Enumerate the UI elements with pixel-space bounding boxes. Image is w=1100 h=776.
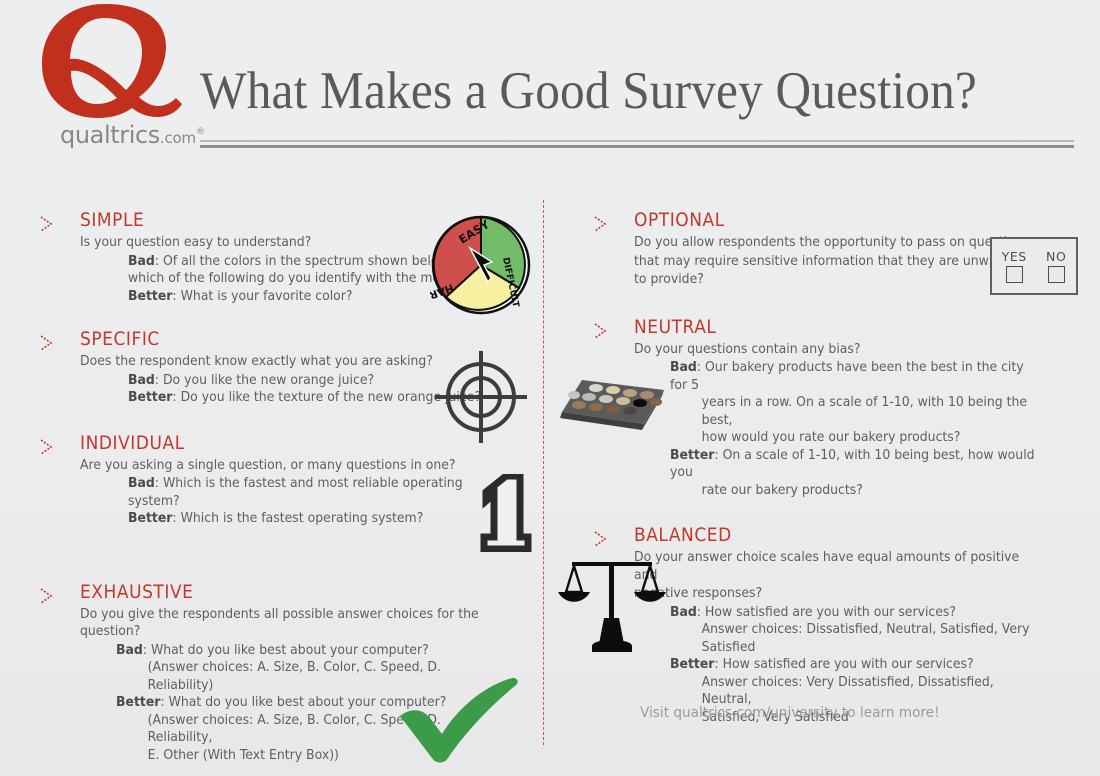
- logo-registered-mark: ®: [196, 127, 205, 137]
- better-text: : What is your favorite color?: [172, 289, 352, 304]
- bad-text: : Which is the fastest and most reliable…: [128, 476, 463, 509]
- bad-label: Bad: [116, 643, 143, 658]
- better-answer-choices: Answer choices: Very Dissatisfied, Dissa…: [702, 674, 1044, 709]
- header: qualtrics.com® What Makes a Good Survey …: [0, 0, 1100, 175]
- title-rule-thin: [200, 140, 1074, 142]
- better-text-cont: rate our bakery products?: [702, 482, 1044, 500]
- bad-label: Bad: [670, 605, 697, 620]
- better-text: : Which is the fastest operating system?: [172, 511, 423, 526]
- chevron-right-icon: [38, 334, 56, 352]
- column-divider: [543, 200, 544, 745]
- section-question-line2: that may require sensitive information t…: [634, 253, 1041, 271]
- yes-checkbox[interactable]: [1006, 266, 1023, 283]
- chevron-right-icon: [592, 215, 610, 233]
- yes-option[interactable]: YES: [1002, 249, 1027, 283]
- title-rule-thick: [200, 145, 1074, 148]
- bad-text: : What do you like best about your compu…: [143, 643, 429, 658]
- section-title: BALANCED: [634, 525, 1037, 546]
- yes-no-checkbox-group[interactable]: YES NO: [990, 237, 1078, 295]
- better-label: Better: [128, 289, 172, 304]
- section-title: EXHAUSTIVE: [80, 582, 501, 603]
- footer-note[interactable]: Visit qualtrics.com/university to learn …: [640, 705, 940, 721]
- bad-text: : Do you like the new orange juice?: [155, 373, 374, 388]
- bad-example: Bad: Our bakery products have been the b…: [670, 359, 1044, 447]
- section-title: OPTIONAL: [634, 210, 1037, 231]
- balance-scale-icon: [558, 548, 666, 666]
- bad-example: Bad: How satisfied are you with our serv…: [670, 604, 1044, 657]
- section-question: Are you asking a single question, or man…: [80, 457, 506, 475]
- bad-example: Bad: Which is the fastest and most relia…: [128, 475, 509, 510]
- logo-dotcom: .com: [160, 129, 196, 147]
- bad-text: : Our bakery products have been the best…: [670, 360, 1024, 393]
- better-label: Better: [128, 390, 172, 405]
- better-label: Better: [128, 511, 172, 526]
- bad-text: : How satisfied are you with our service…: [697, 605, 956, 620]
- yes-label: YES: [1002, 249, 1027, 264]
- section-question: Do your questions contain any bias?: [634, 341, 1041, 359]
- section-question-line2: negative responses?: [634, 585, 1041, 603]
- ease-pie-chart: EASY DIFFICULT HARD: [430, 214, 532, 316]
- section-question: Do you give the respondents all possible…: [80, 606, 506, 641]
- better-label: Better: [670, 448, 714, 463]
- no-checkbox[interactable]: [1048, 266, 1065, 283]
- better-label: Better: [116, 695, 160, 710]
- bad-answer-choices: Answer choices: Dissatisfied, Neutral, S…: [702, 621, 1044, 639]
- bad-label: Bad: [670, 360, 697, 375]
- chevron-right-icon: [38, 587, 56, 605]
- crosshair-target-icon: [432, 348, 530, 446]
- bad-label: Bad: [128, 254, 155, 269]
- numeral-one-icon: [472, 474, 534, 552]
- better-example: Better: On a scale of 1-10, with 10 bein…: [670, 447, 1044, 500]
- better-text: : On a scale of 1-10, with 10 being best…: [670, 448, 1035, 481]
- chevron-right-icon: [592, 530, 610, 548]
- qualtrics-wordmark: qualtrics.com®: [60, 121, 205, 149]
- qualtrics-logo[interactable]: qualtrics.com®: [30, 2, 200, 152]
- better-example: Better: Which is the fastest operating s…: [128, 510, 509, 528]
- bad-label: Bad: [128, 373, 155, 388]
- bad-label: Bad: [128, 476, 155, 491]
- section-title: SPECIFIC: [80, 329, 501, 350]
- infographic-page: qualtrics.com® What Makes a Good Survey …: [0, 0, 1100, 776]
- no-option[interactable]: NO: [1046, 249, 1066, 283]
- chevron-right-icon: [38, 438, 56, 456]
- section-question-line3: to provide?: [634, 271, 1041, 289]
- green-checkmark-icon: [392, 672, 524, 766]
- logo-word-text: qualtrics: [60, 121, 160, 149]
- chevron-right-icon: [38, 215, 56, 233]
- section-individual: INDIVIDUAL Are you asking a single quest…: [38, 433, 538, 528]
- page-title: What Makes a Good Survey Question?: [200, 64, 977, 118]
- bakery-tray-icon: [552, 372, 674, 436]
- no-label: NO: [1046, 249, 1066, 264]
- qualtrics-q-icon: [30, 2, 190, 124]
- bad-text: : Of all the colors in the spectrum show…: [155, 254, 453, 269]
- better-text: : How satisfied are you with our service…: [714, 657, 973, 672]
- section-question-line1: Do you allow respondents the opportunity…: [634, 234, 1041, 252]
- section-title: NEUTRAL: [634, 317, 1037, 338]
- bad-answer-choices-cont: Satisfied: [702, 639, 1044, 657]
- title-underline-rules: [200, 140, 1074, 148]
- section-question-line1: Do your answer choice scales have equal …: [634, 549, 1041, 584]
- bad-text-cont1: years in a row. On a scale of 1-10, with…: [702, 394, 1044, 429]
- chevron-right-icon: [592, 322, 610, 340]
- better-label: Better: [670, 657, 714, 672]
- bad-text-cont2: how would you rate our bakery products?: [702, 429, 1044, 447]
